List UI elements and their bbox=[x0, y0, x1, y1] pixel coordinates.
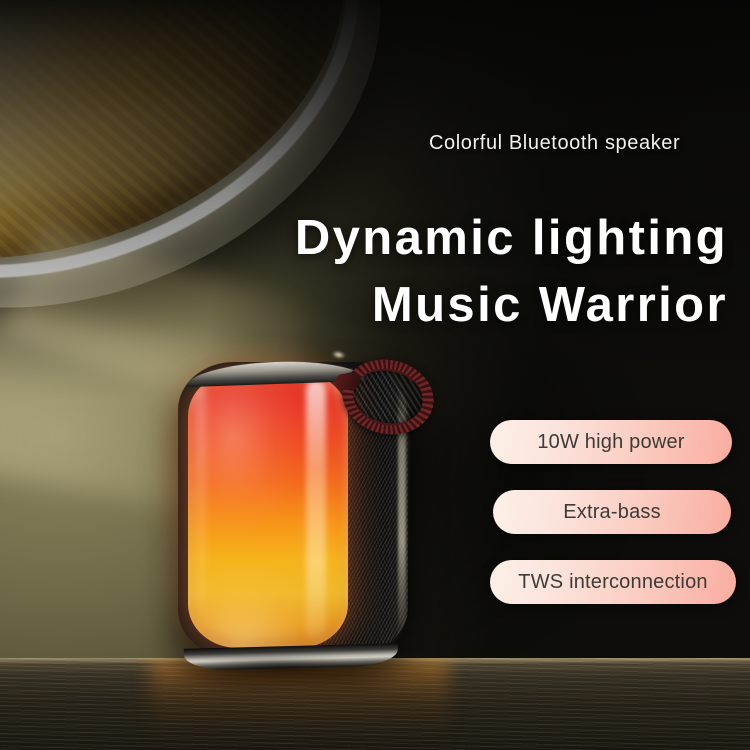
speaker-panel-rimlight bbox=[188, 372, 348, 648]
product-speaker-image bbox=[178, 362, 410, 664]
feature-pill-tws[interactable]: TWS interconnection bbox=[490, 560, 736, 604]
speaker-glow-panel bbox=[188, 372, 348, 648]
feature-pill-label: 10W high power bbox=[537, 431, 684, 454]
ad-headline: Dynamic lighting Music Warrior bbox=[0, 205, 728, 339]
headline-line-2: Music Warrior bbox=[0, 272, 728, 339]
feature-pill-power[interactable]: 10W high power bbox=[490, 420, 732, 464]
product-ad-banner: Colorful Bluetooth speaker Dynamic light… bbox=[0, 0, 750, 750]
feature-pill-label: Extra-bass bbox=[563, 501, 661, 524]
feature-pill-list: 10W high power Extra-bass TWS interconne… bbox=[486, 420, 738, 630]
feature-pill-bass[interactable]: Extra-bass bbox=[493, 490, 731, 534]
headline-line-1: Dynamic lighting bbox=[0, 205, 728, 272]
speaker-contact-shadow bbox=[196, 662, 396, 676]
ad-subtitle: Colorful Bluetooth speaker bbox=[429, 132, 680, 155]
feature-pill-label: TWS interconnection bbox=[518, 571, 707, 594]
